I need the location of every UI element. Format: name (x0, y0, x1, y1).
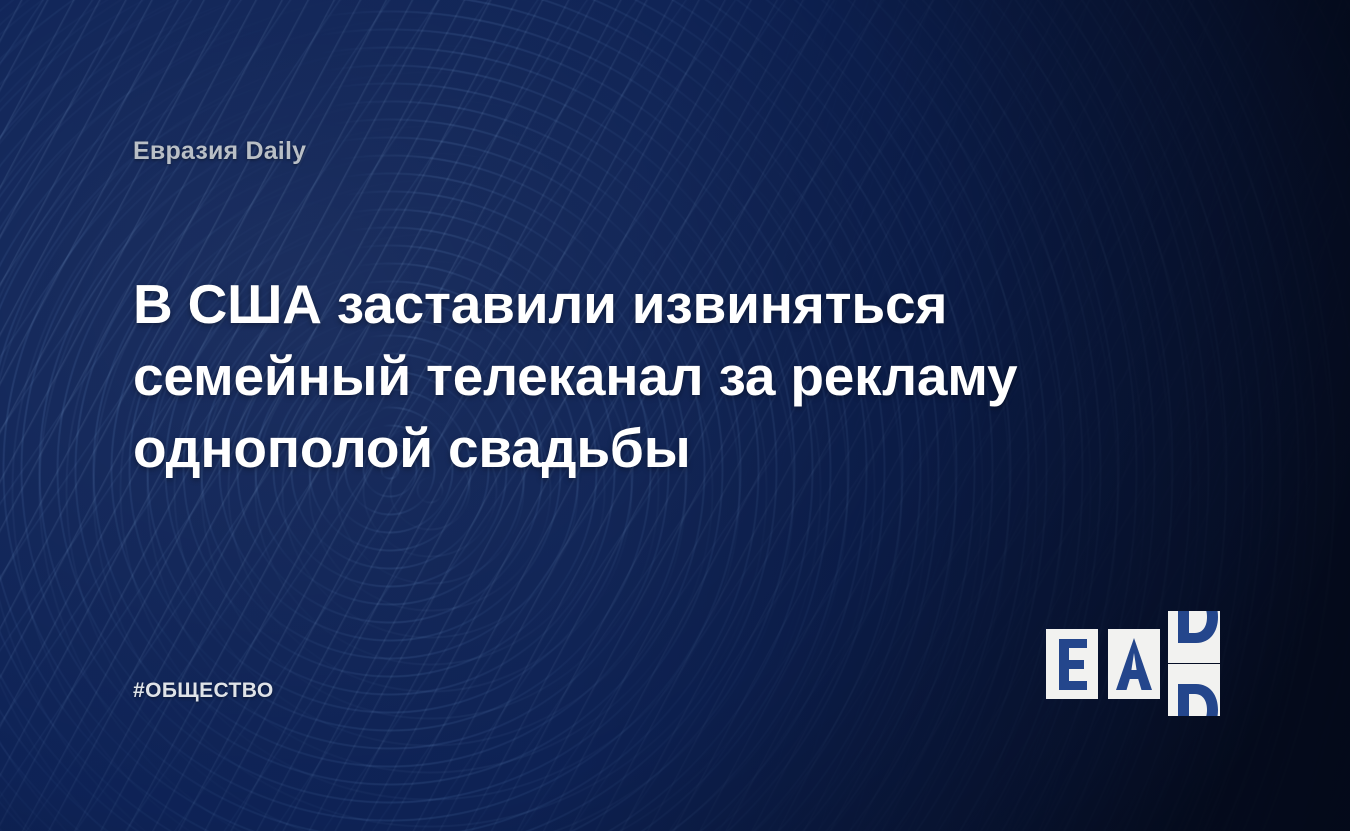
category-tag[interactable]: #ОБЩЕСТВО (133, 679, 274, 703)
site-name: Евразия Daily (133, 137, 306, 166)
logo-tile-d-bottom-icon (1168, 664, 1220, 716)
eadaily-logo[interactable] (1046, 611, 1222, 715)
logo-tile-d-top-icon (1168, 611, 1220, 663)
news-card: Евразия Daily В США заставили извиняться… (0, 0, 1350, 831)
logo-tile-e-icon (1046, 629, 1098, 699)
page-title: В США заставили извиняться семейный теле… (133, 268, 1223, 484)
logo-tile-a-icon (1108, 629, 1160, 699)
card-content: Евразия Daily В США заставили извиняться… (0, 0, 1350, 831)
